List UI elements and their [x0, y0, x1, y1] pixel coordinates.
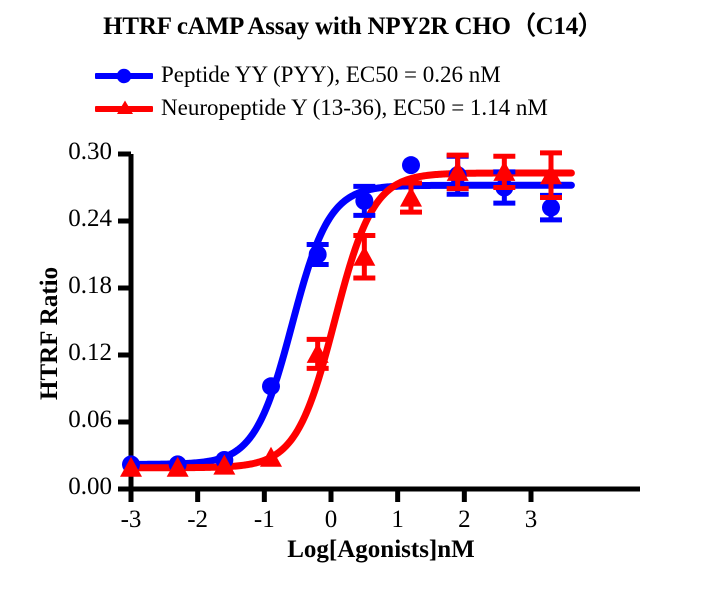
fit-curve-red	[131, 173, 571, 468]
x-tick-label: -1	[244, 506, 284, 534]
y-tick-label: 0.00	[42, 473, 112, 501]
y-tick-label: 0.06	[42, 406, 112, 434]
y-tick-label: 0.30	[42, 138, 112, 166]
x-tick-label: 1	[378, 506, 418, 534]
data-point-triangle	[400, 187, 422, 207]
x-tick-label: -3	[111, 506, 151, 534]
x-tick-label: 0	[311, 506, 351, 534]
data-point-circle	[355, 192, 373, 210]
chart-figure: HTRF cAMP Assay with NPY2R CHO（C14） Pept…	[0, 0, 706, 589]
data-point-circle	[542, 199, 560, 217]
fit-curve-blue	[131, 185, 571, 464]
data-point-circle	[402, 156, 420, 174]
x-tick-label: -2	[178, 506, 218, 534]
y-tick-label: 0.24	[42, 205, 112, 233]
x-axis-title: Log[Agonists]nM	[131, 536, 631, 564]
x-tick-label: 3	[511, 506, 551, 534]
y-axis-title: HTRF Ratio	[36, 267, 64, 400]
x-tick-label: 2	[444, 506, 484, 534]
data-point-circle	[309, 246, 327, 264]
data-point-circle	[262, 377, 280, 395]
